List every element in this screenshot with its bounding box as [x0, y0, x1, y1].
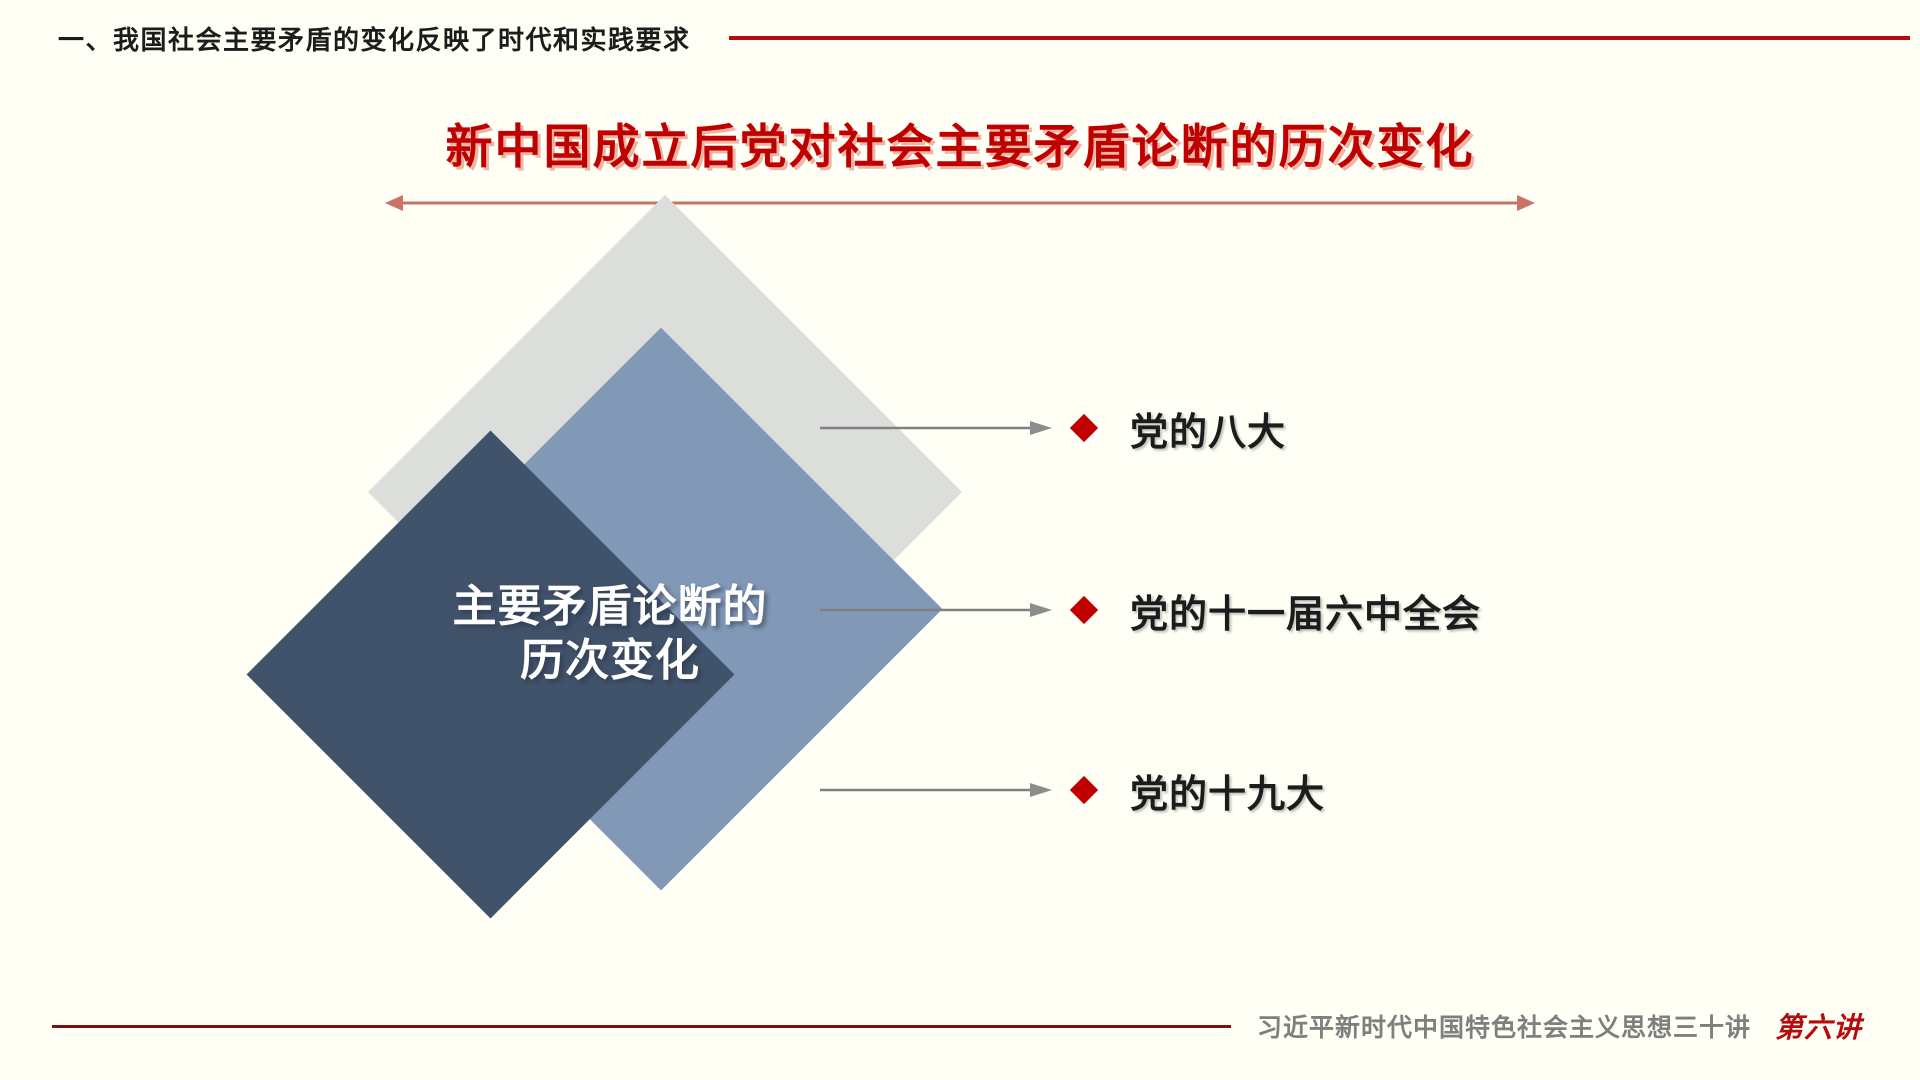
bullet-diamond-icon	[1070, 776, 1098, 804]
bullet-list: 党的八大 党的十一届六中全会 党的十九大	[0, 0, 1920, 1080]
list-item-label: 党的八大	[1130, 401, 1286, 456]
slide-footer: 习近平新时代中国特色社会主义思想三十讲 第六讲	[0, 1000, 1920, 1052]
bullet-diamond-icon	[1070, 414, 1098, 442]
list-item[interactable]: 党的十一届六中全会	[820, 575, 1481, 645]
list-item[interactable]: 党的八大	[820, 393, 1286, 463]
footer-series-title: 习近平新时代中国特色社会主义思想三十讲	[1257, 1008, 1751, 1044]
slide-canvas: 一、我国社会主要矛盾的变化反映了时代和实践要求 新中国成立后党对社会主要矛盾论断…	[0, 0, 1920, 1080]
arrow-right-icon	[820, 780, 1052, 800]
bullet-diamond-icon	[1070, 596, 1098, 624]
footer-lesson-number: 第六讲	[1775, 1006, 1862, 1046]
arrow-right-icon	[820, 418, 1052, 438]
diagram-center-label: 主要矛盾论断的 历次变化	[310, 580, 910, 687]
list-item[interactable]: 党的十九大	[820, 755, 1325, 825]
list-item-label: 党的十一届六中全会	[1130, 583, 1481, 638]
footer-rule	[52, 1025, 1231, 1028]
list-item-label: 党的十九大	[1130, 763, 1325, 818]
